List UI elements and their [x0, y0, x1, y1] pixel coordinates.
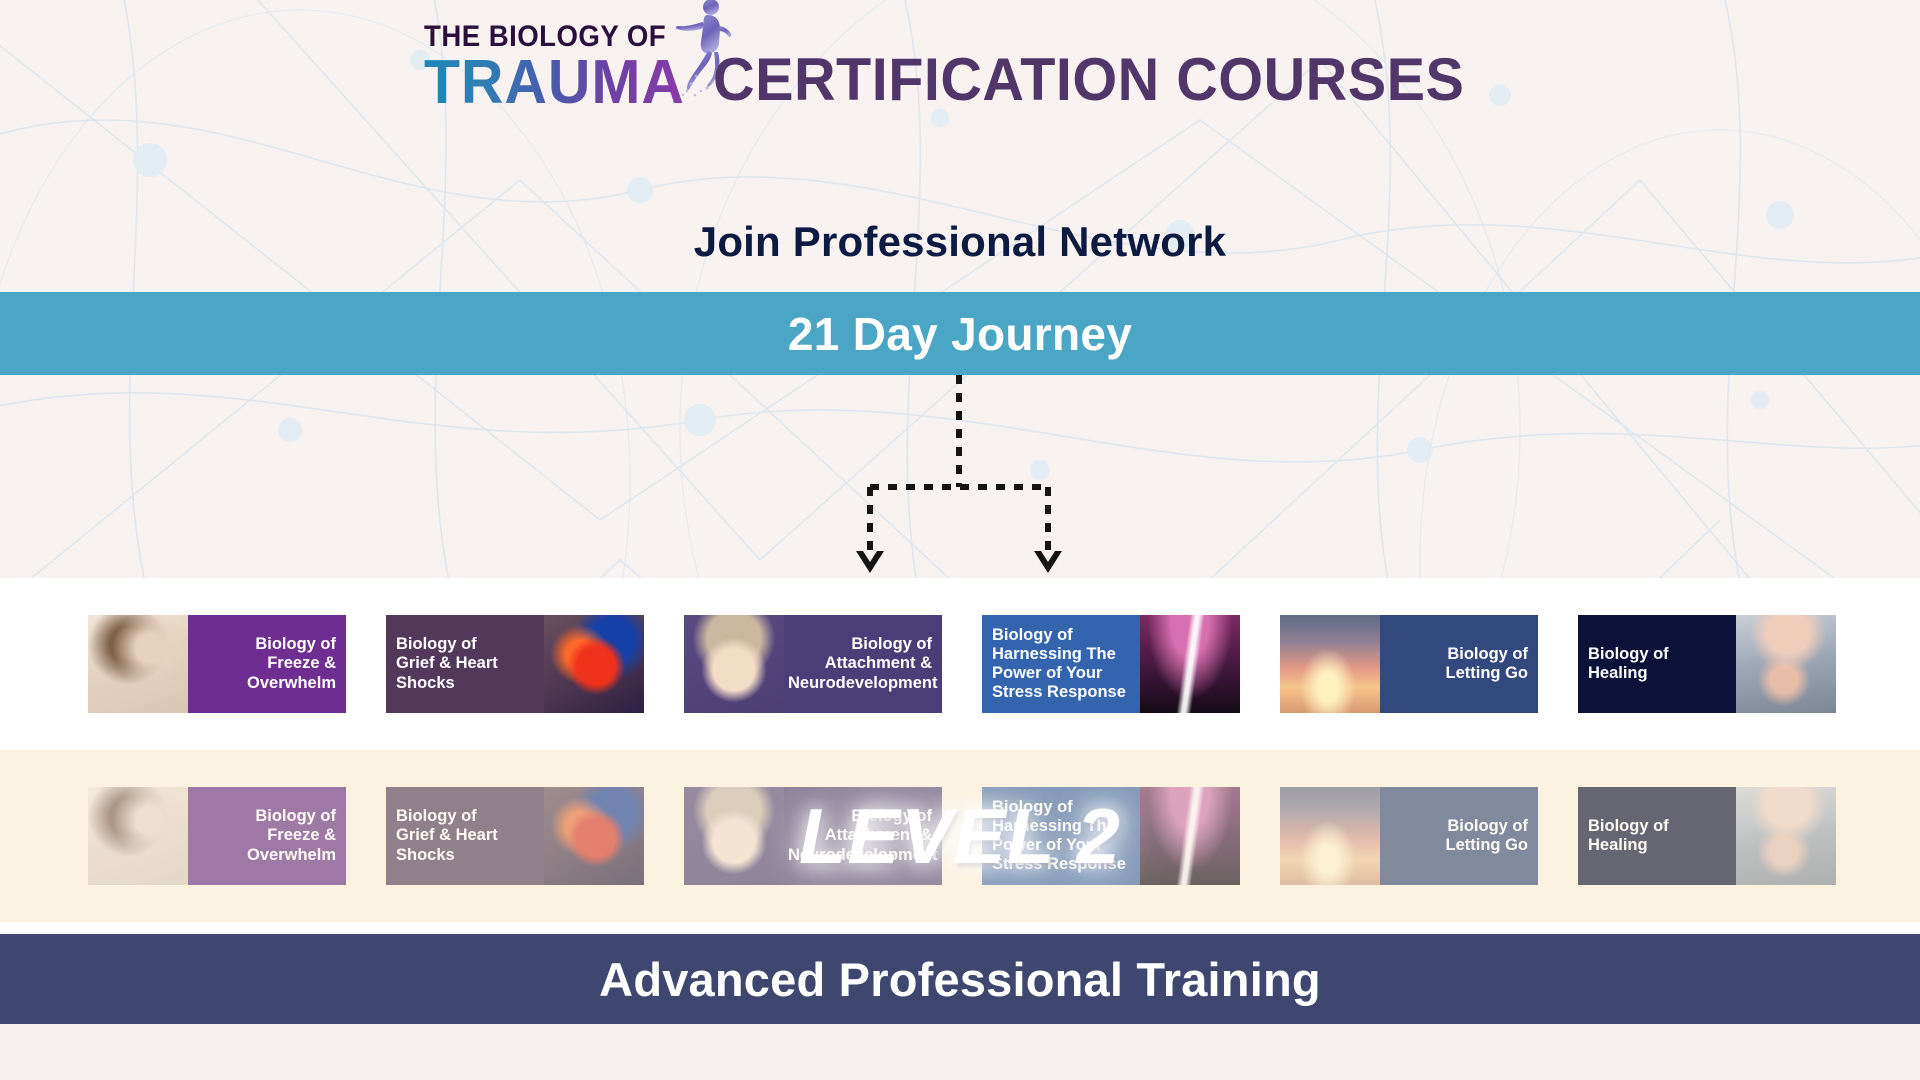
course-card-label: Biology of Healing	[1578, 645, 1836, 683]
course-card[interactable]: Biology of Grief & Heart Shocks	[386, 787, 644, 885]
course-card[interactable]: Biology of Attachment & Neurodevelopment	[684, 787, 942, 885]
course-card-label: Biology of Healing	[1578, 817, 1836, 855]
page-title: CERTIFICATION COURSES	[713, 51, 1464, 111]
course-card[interactable]: Biology of Letting Go	[1280, 787, 1538, 885]
course-card[interactable]: Biology of Harnessing The Power of Your …	[982, 787, 1240, 885]
infographic-page: THE BIOLOGY OF TRAUMA	[0, 0, 1920, 1080]
course-card-label: Biology of Letting Go	[1280, 817, 1538, 855]
row-spacer	[0, 922, 1920, 934]
logo-line-trauma: TRAUMA	[424, 54, 685, 111]
course-card-label: Biology of Freeze & Overwhelm	[88, 807, 346, 864]
dotted-branch-arrow-icon	[820, 375, 1100, 580]
course-card-label: Biology of Freeze & Overwhelm	[88, 635, 346, 692]
course-card[interactable]: Biology of Freeze & Overwhelm	[88, 615, 346, 713]
level-1-row-band: Biology of Freeze & OverwhelmBiology of …	[0, 578, 1920, 750]
course-card-label: Biology of Attachment & Neurodevelopment	[684, 807, 942, 864]
journey-banner-label: 21 Day Journey	[788, 307, 1132, 361]
logo-title-row: THE BIOLOGY OF TRAUMA	[0, 22, 1920, 111]
course-card[interactable]: Biology of Healing	[1578, 615, 1836, 713]
level-2-row-band: Biology of Freeze & OverwhelmBiology of …	[0, 750, 1920, 922]
course-card-label: Biology of Grief & Heart Shocks	[386, 807, 644, 864]
level-1-cards-row: Biology of Freeze & OverwhelmBiology of …	[88, 615, 1836, 713]
footer-strip	[0, 1024, 1920, 1080]
course-card[interactable]: Biology of Attachment & Neurodevelopment	[684, 615, 942, 713]
subtitle-join-professional-network: Join Professional Network	[0, 218, 1920, 266]
header: THE BIOLOGY OF TRAUMA	[0, 0, 1920, 185]
brand-logo: THE BIOLOGY OF TRAUMA	[424, 22, 699, 111]
course-card-label: Biology of Harnessing The Power of Your …	[982, 626, 1240, 703]
advanced-training-banner-label: Advanced Professional Training	[599, 952, 1321, 1007]
course-card[interactable]: Biology of Letting Go	[1280, 615, 1538, 713]
advanced-training-banner: Advanced Professional Training	[0, 934, 1920, 1024]
level-2-cards-row: Biology of Freeze & OverwhelmBiology of …	[88, 787, 1836, 885]
course-card[interactable]: Biology of Harnessing The Power of Your …	[982, 615, 1240, 713]
course-card[interactable]: Biology of Healing	[1578, 787, 1836, 885]
journey-banner: 21 Day Journey	[0, 292, 1920, 375]
course-card-label: Biology of Letting Go	[1280, 645, 1538, 683]
course-card[interactable]: Biology of Freeze & Overwhelm	[88, 787, 346, 885]
course-card-label: Biology of Harnessing The Power of Your …	[982, 798, 1240, 875]
course-card-label: Biology of Grief & Heart Shocks	[386, 635, 644, 692]
course-card[interactable]: Biology of Grief & Heart Shocks	[386, 615, 644, 713]
course-card-label: Biology of Attachment & Neurodevelopment	[684, 635, 942, 692]
